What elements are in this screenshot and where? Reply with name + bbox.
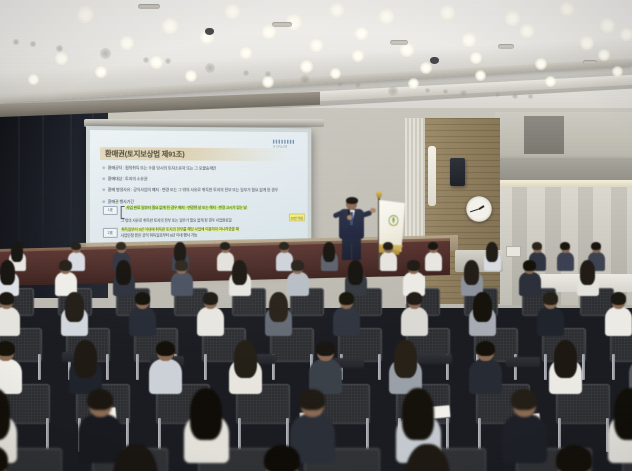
attendee-torso [149, 359, 182, 394]
attendee-hair [279, 242, 289, 250]
attendee-hair [190, 388, 222, 440]
ceiling-downlight [185, 70, 197, 82]
attendee [148, 340, 183, 394]
attendee-hair [543, 292, 558, 304]
attendee-hair [269, 292, 288, 322]
ceiling-downlight [379, 9, 394, 24]
ceiling-vent [143, 57, 149, 63]
chair-frame-leg [366, 418, 369, 452]
attendee [68, 340, 103, 394]
attendee [388, 340, 423, 394]
attendee-hair [611, 292, 626, 304]
attendee-hair [554, 340, 578, 378]
attendee [60, 292, 89, 336]
wall-speaker [450, 158, 465, 186]
attendee-hair [113, 444, 158, 471]
attendee-hair [234, 340, 258, 378]
ceiling-slot-vent [583, 60, 597, 65]
attendee-torso [0, 307, 20, 336]
ceiling-downlight [440, 5, 455, 20]
ceiling-downlight [28, 74, 39, 85]
ceiling-vent [13, 39, 19, 45]
slide-bullet-list: ※환매공탁 : 협의취득 또는 수용 당시의 토지소유자 또는 그 포괄승계인※… [102, 165, 295, 210]
attendee-hair [65, 292, 84, 322]
attendee-hair [299, 389, 325, 410]
attendee-hair [203, 292, 218, 304]
flag-finial [376, 191, 382, 198]
ceiling-downlight [310, 39, 323, 52]
attendee [468, 292, 497, 336]
ceiling-downlight [240, 47, 252, 59]
ceiling-downlight [162, 18, 178, 34]
slide-table-row-text: 사업 완료 일부터 필요 없게 된 경우 폐지 · 변경된 날 또는 해지 · … [121, 206, 298, 224]
ceiling-downlight [355, 27, 368, 40]
seminar-room-photo: 한국부동산원 환매권(토지보상법 제91조) ※환매공탁 : 협의취득 또는 수… [0, 0, 632, 471]
attendee-torso [469, 359, 502, 394]
presenter-left-hand [347, 215, 352, 220]
ceiling-vent [512, 93, 518, 99]
slide-table-line: 사업 완료 일부터 필요 없게 된 경우 폐지 · 변경된 날 또는 해지 · … [126, 206, 290, 212]
attendee-hair [156, 341, 175, 356]
panel-horizontal-band [495, 158, 632, 180]
slide-table-line: 그 밖의 사유로 취득한 토지의 전부 또는 일부가 필요 없게 된 경우 사업… [121, 218, 286, 224]
ceiling-vent [205, 63, 215, 73]
attendee-hair [614, 388, 632, 440]
ceiling-downlight [225, 4, 240, 19]
attendee [308, 340, 343, 394]
attendee-hair [428, 242, 438, 250]
attendee [0, 444, 24, 471]
chair-frame-leg [204, 354, 207, 380]
ceiling-downlight [330, 3, 344, 17]
attendee [344, 260, 367, 296]
ceiling-downlight [462, 33, 476, 47]
ceiling-vent [355, 82, 361, 88]
attendee [320, 242, 339, 271]
ceiling-slot-vent [390, 40, 408, 45]
ceiling-downlight [352, 50, 364, 62]
ceiling-downlight [620, 28, 632, 41]
bullet-marker-icon: ※ [102, 165, 106, 171]
ceiling-downlight [120, 36, 134, 50]
attendee [604, 292, 632, 336]
ceiling-vent [443, 89, 448, 94]
attendee-hair [74, 340, 98, 378]
attendee [394, 444, 462, 471]
chair-frame-leg [478, 418, 481, 452]
panel-cove-light [495, 180, 632, 187]
ceiling-downlight [475, 70, 486, 81]
ceiling-downlight [300, 60, 313, 73]
attendee-hair [591, 242, 601, 250]
ceiling-downlight [408, 78, 419, 89]
attendee [170, 260, 193, 296]
chair-frame-leg [38, 354, 41, 380]
attendee-hair [394, 340, 418, 378]
slide-bullet: ※환매대상 : 토지의 소유권 [102, 176, 295, 182]
attendee-torso [401, 307, 428, 336]
ceiling-downlight [330, 68, 341, 79]
attendee-torso [380, 252, 397, 271]
ceiling-vent [337, 81, 343, 87]
ceiling-downlight [95, 66, 107, 78]
chair-frame-leg [106, 354, 109, 380]
attendee-hair [402, 388, 434, 440]
ceiling-downlight [600, 18, 615, 33]
ceiling-downlight [262, 76, 274, 88]
attendee [332, 292, 361, 336]
attendee [228, 340, 263, 394]
bullet-text: 환매 발생사유 : 공익사업의 폐지 · 변경 또는 그 밖의 사유로 취득한 … [108, 187, 278, 193]
presenter-hair [346, 197, 358, 204]
attendee [628, 340, 632, 394]
slide-bullet: ※환매 발생사유 : 공익사업의 폐지 · 변경 또는 그 밖의 사유로 취득한… [102, 187, 295, 193]
ceiling-downlight [505, 11, 520, 26]
attendee-hair [0, 445, 8, 471]
attendee-hair [407, 260, 419, 270]
chair-frame-leg [136, 354, 139, 380]
ceiling-vent [243, 70, 249, 76]
attendee-hair [264, 445, 300, 471]
ceiling-speaker [430, 57, 439, 64]
attendee [196, 292, 225, 336]
ceiling-vent [388, 86, 398, 96]
attendee [182, 388, 231, 463]
attendee [54, 260, 77, 296]
slide-table-row-label: 1호 [103, 206, 118, 215]
attendee [460, 260, 483, 296]
ceiling-downlight [535, 58, 547, 70]
bullet-marker-icon: ※ [102, 176, 106, 182]
slide-side-tag: 10년 이내 [289, 214, 305, 222]
ceiling-speaker [205, 28, 214, 35]
bullet-marker-icon: ※ [102, 187, 106, 193]
attendee-hair [174, 242, 186, 262]
slide-table-row: 1호사업 완료 일부터 필요 없게 된 경우 폐지 · 변경된 날 또는 해지 … [103, 206, 297, 225]
audience-seating [0, 236, 632, 471]
attendee [228, 260, 251, 296]
attendee [0, 292, 21, 336]
attendee-hair [59, 260, 71, 270]
ceiling-downlight [420, 62, 432, 74]
attendee-hair [339, 292, 354, 304]
attendee-hair [116, 242, 126, 250]
attendee [540, 444, 608, 471]
ceiling-slot-vent [498, 44, 514, 49]
attendee-hair [135, 292, 150, 304]
clock-minute-hand [470, 208, 479, 212]
attendee [102, 444, 170, 471]
ceiling-downlight [77, 6, 94, 23]
attendee [400, 292, 429, 336]
attendee [468, 340, 503, 394]
attendee-hair [473, 292, 492, 322]
ceiling-vent [265, 71, 271, 77]
attendee [0, 260, 19, 296]
wall-clock [466, 196, 492, 222]
attendee [606, 388, 632, 463]
attendee-torso [171, 272, 193, 295]
ceiling-vent [100, 48, 111, 59]
clock-hour-hand [479, 205, 485, 210]
attendee [536, 292, 565, 336]
chair-frame-leg [544, 354, 547, 380]
attendee [548, 340, 583, 394]
ceiling-vent [30, 41, 36, 47]
attendee [264, 292, 293, 336]
attendee-torso [605, 307, 632, 336]
attendee [379, 242, 398, 271]
ceiling-downlight [598, 49, 610, 61]
slide-bullet: ※환매권 행사기간 [102, 199, 295, 205]
bullet-text: 환매대상 : 토지의 소유권 [108, 176, 147, 182]
attendee-hair [383, 242, 393, 250]
ceiling-vent [495, 92, 500, 97]
attendee-hair [464, 260, 480, 285]
slide-title: 환매권(토지보상법 제91조) [100, 147, 290, 161]
ceiling-vent [165, 58, 171, 64]
chair-frame-leg [46, 418, 49, 452]
ceiling-slot-vent [138, 4, 160, 9]
attendee [402, 260, 425, 296]
attendee-hair [291, 260, 303, 270]
bullet-text: 환매공탁 : 협의취득 또는 수용 당시의 토지소유자 또는 그 포괄승계인 [108, 165, 216, 171]
chair-frame-leg [612, 354, 615, 380]
attendee-torso [129, 307, 156, 336]
attendee-hair [232, 260, 248, 285]
attendee-hair [348, 260, 364, 285]
attendee-hair [0, 260, 15, 285]
attendee-hair [580, 260, 596, 285]
attendee-hair [532, 242, 542, 250]
attendee [556, 242, 575, 271]
ceiling-vent [300, 75, 310, 85]
bullet-marker-icon: ※ [102, 199, 106, 205]
attendee-torso [557, 252, 574, 271]
attendee [112, 260, 135, 296]
attendee-torso [333, 307, 360, 336]
attendee [483, 242, 502, 271]
attendee [424, 242, 443, 271]
attendee [286, 260, 309, 296]
panel-dark-inset [524, 116, 564, 154]
ceiling-downlight [560, 2, 574, 16]
ceiling-vent [56, 45, 63, 52]
attendee-hair [511, 389, 537, 410]
attendee-hair [323, 242, 335, 262]
chair-tablet-arm [506, 357, 540, 367]
ceiling-downlight [400, 43, 414, 57]
attendee-hair [11, 242, 23, 262]
attendee-hair [71, 242, 81, 250]
attendee [248, 444, 316, 471]
attendee-hair [220, 242, 230, 250]
attendee-torso [197, 307, 224, 336]
attendee-hair [0, 292, 14, 304]
attendee [576, 260, 599, 296]
chair-frame-leg [378, 354, 381, 380]
ceiling-slot-vent [272, 22, 292, 27]
ceiling-downlight [520, 24, 534, 38]
chair-frame-leg [238, 418, 241, 452]
ceiling-vent [460, 90, 467, 97]
ceiling-downlight [150, 56, 163, 69]
slide-bullet: ※환매공탁 : 협의취득 또는 수용 당시의 토지소유자 또는 그 포괄승계인 [102, 165, 295, 172]
attendee-hair [476, 341, 495, 356]
ceiling-vent [528, 94, 533, 99]
attendee-hair [556, 445, 592, 471]
attendee-hair [523, 260, 535, 270]
attendee-hair [87, 389, 113, 410]
ceiling-vent [425, 88, 430, 93]
flag-emblem-icon [387, 214, 400, 229]
ceiling-downlight [545, 76, 556, 87]
ceiling-downlight [580, 36, 594, 50]
ceiling-downlight [612, 66, 623, 77]
wall-strip-light [428, 146, 436, 206]
attendee-torso [425, 252, 442, 271]
attendee-hair [0, 341, 15, 356]
bullet-text: 환매권 행사기간 [108, 199, 134, 205]
ceiling-downlight [262, 25, 276, 39]
attendee [128, 292, 157, 336]
attendee-torso [537, 307, 564, 336]
attendee-hair [486, 242, 498, 262]
attendee-hair [405, 444, 450, 471]
attendee-hair [175, 260, 187, 270]
ceiling-downlight [470, 52, 482, 64]
attendee-hair [407, 292, 422, 304]
attendee-hair [316, 341, 335, 356]
attendee-hair [560, 242, 570, 250]
attendee [518, 260, 541, 296]
ceiling-downlight [55, 52, 68, 65]
attendee-hair [116, 260, 132, 285]
attendee [0, 340, 23, 394]
